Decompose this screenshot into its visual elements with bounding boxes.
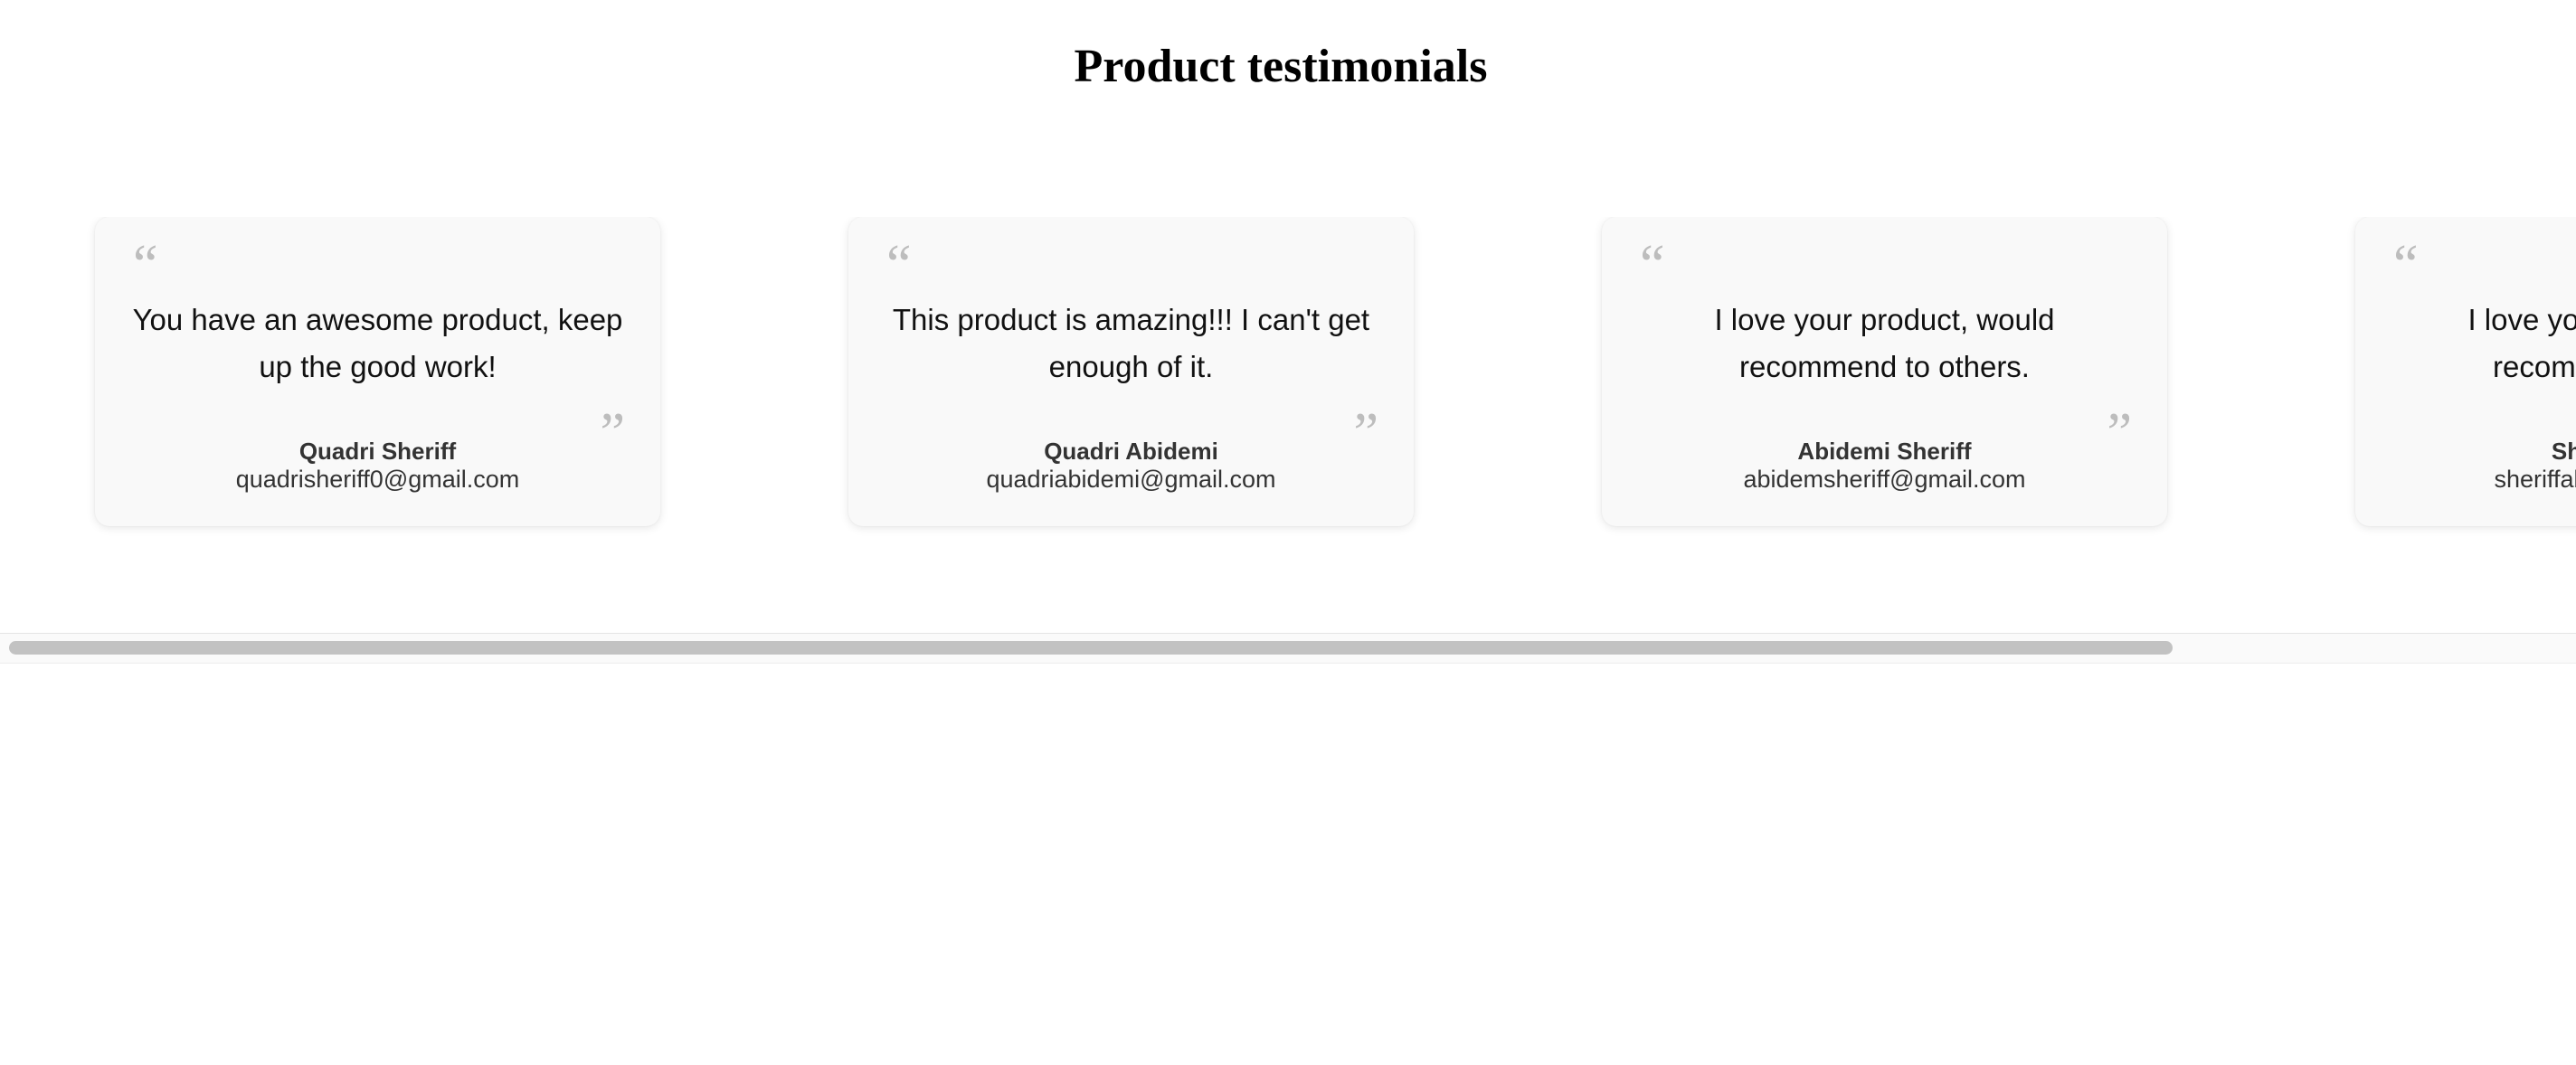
testimonial-quote: I love your product, would recommend to … — [1638, 297, 2131, 391]
author-name: Abidemi Sheriff — [1624, 438, 2145, 465]
testimonial-card[interactable]: “ I love your product, would recommend t… — [1602, 217, 2167, 526]
author-email: quadrisheriff0@gmail.com — [117, 465, 639, 494]
testimonial-card[interactable]: “ I love your product, would recommend t… — [2355, 217, 2576, 526]
quote-open-icon: “ — [1640, 237, 1666, 293]
quote-open-icon: “ — [886, 237, 913, 293]
author-name: Quadri Abidemi — [870, 438, 1392, 465]
page-title: Product testimonials — [0, 39, 2562, 95]
quote-open-icon: “ — [2393, 237, 2420, 293]
testimonial-author: Sheriff Abidemi sheriffabidemi@gmail.com — [2377, 438, 2576, 494]
carousel-track[interactable]: “ You have an awesome product, keep up t… — [0, 217, 2576, 579]
author-name: Quadri Sheriff — [117, 438, 639, 465]
author-email: abidemsheriff@gmail.com — [1624, 465, 2145, 494]
quote-open-icon: “ — [133, 237, 159, 293]
testimonial-author: Abidemi Sheriff abidemsheriff@gmail.com — [1624, 438, 2145, 494]
author-email: quadriabidemi@gmail.com — [870, 465, 1392, 494]
testimonial-author: Quadri Abidemi quadriabidemi@gmail.com — [870, 438, 1392, 494]
author-email: sheriffabidemi@gmail.com — [2377, 465, 2576, 494]
scrollbar-thumb[interactable] — [9, 641, 2173, 655]
horizontal-scrollbar[interactable] — [0, 633, 2576, 664]
testimonial-author: Quadri Sheriff quadrisheriff0@gmail.com — [117, 438, 639, 494]
testimonials-carousel[interactable]: “ You have an awesome product, keep up t… — [0, 217, 2576, 633]
testimonial-quote: This product is amazing!!! I can't get e… — [885, 297, 1378, 391]
testimonial-quote: You have an awesome product, keep up the… — [131, 297, 624, 391]
author-name: Sheriff Abidemi — [2377, 438, 2576, 465]
page-root: Product testimonials “ You have an aweso… — [0, 0, 2576, 1065]
testimonial-card[interactable]: “ You have an awesome product, keep up t… — [95, 217, 660, 526]
testimonial-quote: I love your product, would recommend to … — [2391, 297, 2576, 391]
testimonial-card[interactable]: “ This product is amazing!!! I can't get… — [848, 217, 1414, 526]
